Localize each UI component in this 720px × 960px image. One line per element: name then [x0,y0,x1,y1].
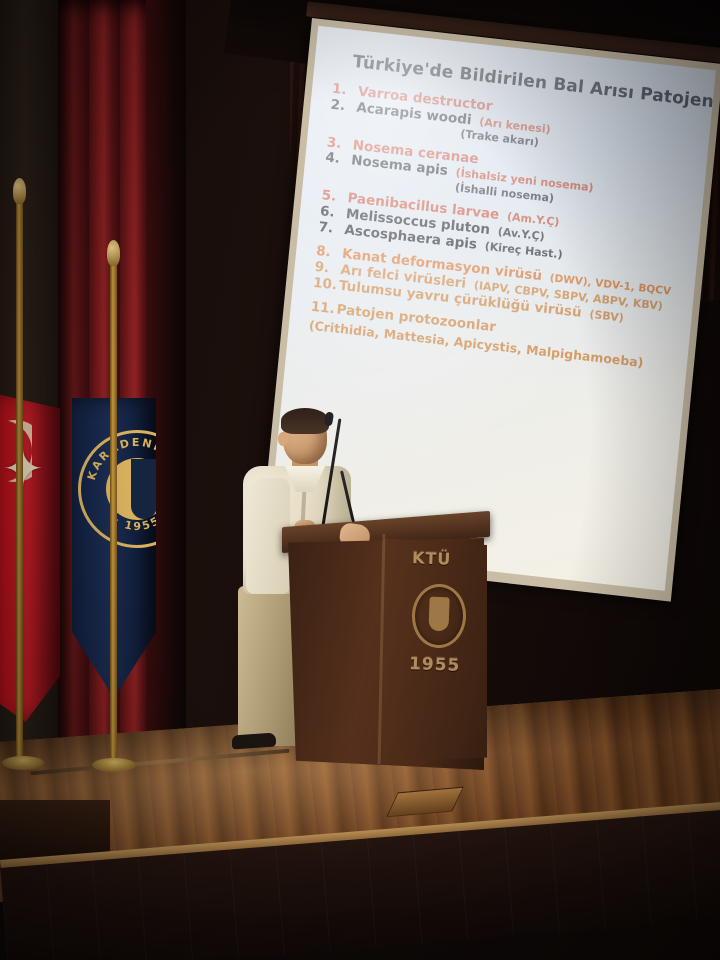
item-number: 10. [312,276,339,294]
flag-base-left [2,756,44,770]
item-number: 7. [318,220,345,238]
item-number: 4. [325,151,352,169]
banner-pole [110,262,117,762]
emblem-notch [131,459,156,519]
lectern-year-label: 1955 [409,654,461,676]
stage-curtain-shadow [146,0,186,790]
flag-pole-left [16,200,23,760]
lectern-institution-label: KTÜ [412,548,452,568]
flag-finial-left [13,178,26,204]
item-annotation: (SBV) [589,309,624,326]
item-number: 11. [310,300,337,318]
speaker-ear [278,432,288,446]
presentation-photo-scene: Türkiye'de Bildirilen Bal Arısı Patojenl… [0,0,720,960]
banner-base [92,758,136,772]
speaker-hair [281,408,329,434]
ktu-emblem-icon: KARADENİZ · 1955 · [78,430,156,548]
item-number: 2. [330,97,357,115]
banner-finial [107,240,120,266]
lectern-side-panel [383,536,487,762]
